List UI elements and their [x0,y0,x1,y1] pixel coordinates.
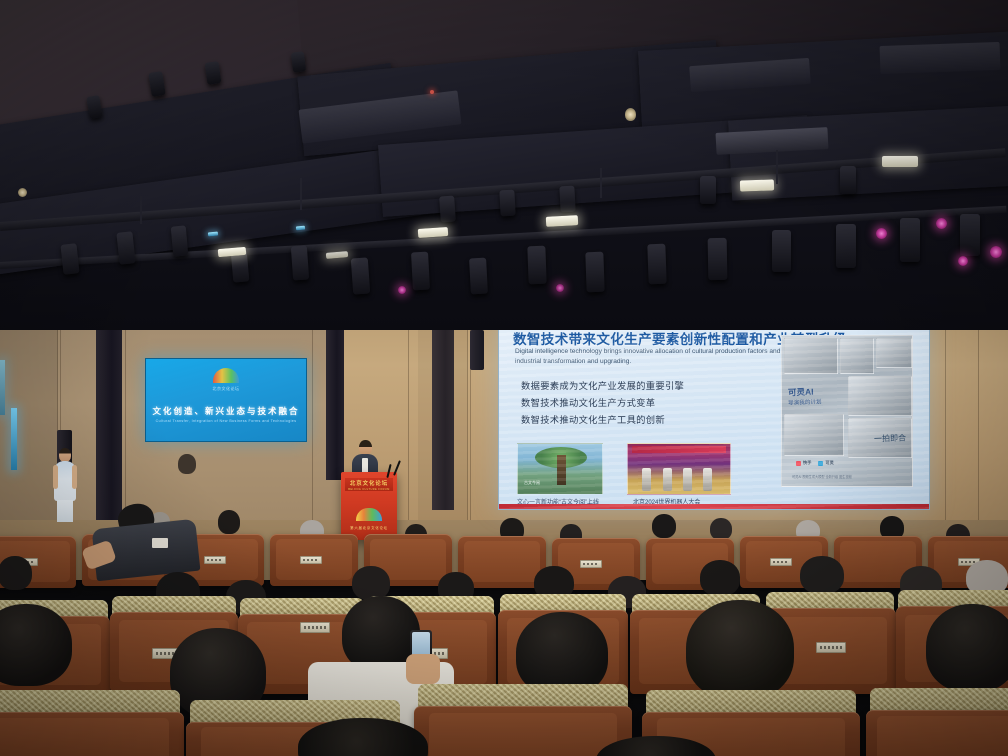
left-screen-english: Cultural Transfer, Integration of New Bu… [156,419,297,423]
audience-head-far [710,518,732,540]
magenta-light [990,246,1002,258]
light-hanger [600,168,602,198]
seat-number-plaque [204,556,226,564]
audience-head-front [926,604,1008,692]
stage-light [559,186,575,213]
stage-light [527,246,546,285]
collage-cell [784,414,844,456]
stage-light [585,252,604,293]
speaker-head [359,440,372,455]
slide-bullet-3: 数智技术推动文化生产工具的创新 [521,412,684,429]
cyan-light-strip [0,360,5,415]
robot-figure [683,468,692,491]
lectern-podium: 北京文化论坛 BEIJING CULTURE FORUM 第六届北京文化论坛 [341,472,397,540]
audience-head-mid [352,566,390,600]
stage-light [411,252,430,291]
wall-pillar [432,300,454,510]
left-projection-screen: 北京文化论坛 文化创造、新兴业态与技术融合 Cultural Transfer,… [145,358,307,442]
magenta-light [398,286,406,294]
audience-head-mid [0,556,32,590]
standing-attendant [53,448,77,522]
slide-photo-ai-collage: 可灵AI 导演我的计划 一拍即合 快手 可灵 可灵AI 视频生成大模型 全新升级… [781,335,913,487]
wall-seam [978,300,979,535]
slide-photo-robot-conference [627,443,731,495]
seat-number-plaque [580,560,602,568]
slide-photo-ancient-text: 古文今阅 [517,443,603,495]
wall-panel [0,300,58,550]
ceiling-duct [880,42,1001,74]
ai-footnote: 可灵AI 视频生成大模型 全新升级 图生视频 [792,475,852,480]
stage-light [960,214,980,256]
stage-light [439,196,456,223]
seat-number-plaque [816,642,846,653]
stage-light [836,224,856,268]
stage-light [840,166,856,194]
robot-figure [703,468,712,491]
ceiling-downlight [625,108,636,121]
left-screen-org: 北京文化论坛 [213,386,240,392]
light-hanger [776,150,778,184]
stage-light [499,190,515,217]
keling-logo: 可灵 [818,460,833,466]
audience-head-far [218,510,240,534]
magenta-light [936,218,947,229]
stage-light [351,257,370,294]
collage-cell [876,338,912,368]
wall-speaker [470,330,484,370]
stage-light [900,218,920,262]
slide-bottom-bar [499,504,929,509]
seat [866,710,1008,756]
conference-hall-photo: 北京文化论坛 文化创造、新兴业态与技术融合 Cultural Transfer,… [0,0,1008,756]
photo-inline-label: 古文今阅 [524,480,540,486]
kuaishou-logo: 快手 [796,460,811,466]
magenta-light [876,228,887,239]
slide-bullet-2: 数智技术推动文化生产方式变革 [521,395,684,412]
collage-cell [784,338,838,374]
wall-seam [408,300,409,530]
seat-number-plaque [300,556,322,564]
stage-light [469,258,488,295]
stage-light [60,243,79,275]
lit-fixture [882,156,918,167]
lit-fixture [546,215,578,227]
podium-title-en: BEIJING CULTURE FORUM [348,488,390,491]
cyan-led [296,226,305,231]
ai-brand-label: 可灵AI [788,386,814,399]
seat [414,706,632,756]
ai-tagline-label: 导演我的计划 [788,397,822,406]
slide-bullet-list: 数据要素成为文化产业发展的重要引擎 数智技术推动文化生产方式变革 数智技术推动文… [521,378,684,430]
left-screen-title: 文化创造、新兴业态与技术融合 [152,405,299,417]
audience-head-far [652,514,676,538]
phone-screen [412,632,430,656]
attendant-arm [53,465,58,489]
stage-light [700,176,716,204]
light-hanger [140,196,142,224]
stage-light [205,61,222,85]
audience-head-front [686,600,794,700]
robot-figure [663,468,672,491]
lit-fixture [740,179,774,191]
stage-light [116,231,135,264]
stage-light [291,245,309,280]
slide-bullet-1: 数据要素成为文化产业发展的重要引擎 [521,378,684,395]
stage-light [647,244,666,285]
attendant-skirt [57,500,73,522]
attendant-arm [72,465,77,489]
attendant-head [59,448,71,462]
audience-head-mid [800,556,844,594]
wall-seam [945,300,946,535]
main-presentation-screen: 数智技术带来文化生产要素创新性配置和产业转型升级 Digital intelli… [498,318,930,510]
seat-number-plaque [770,558,792,566]
collage-cell [840,338,874,374]
stage-light [291,51,306,72]
podium-title-cn: 北京文化论坛 [350,479,388,487]
slide-english-subtitle: Digital intelligence technology brings i… [515,347,785,367]
collage-cell [848,376,912,416]
light-hanger [300,178,302,210]
stage-banner [632,446,726,453]
forum-logo-icon [213,368,239,383]
forum-emblem-icon [356,508,382,521]
magenta-light [958,256,968,266]
podium-nameplate: 北京文化论坛 BEIJING CULTURE FORUM [345,478,393,491]
indicator-light [430,90,434,94]
ceiling-downlight [18,188,27,197]
robot-figure [642,468,651,491]
seat [0,712,184,756]
stage-light [772,230,791,272]
ai-partner-logos: 快手 可灵 [796,460,834,466]
cyan-light-strip [11,408,17,470]
tree-trunk-icon [557,455,566,485]
cyan-led [208,232,218,237]
wall-seam [312,300,313,540]
audience-head-far [178,454,196,474]
person-hand [406,654,440,684]
magenta-light [556,284,564,292]
stage-light [171,225,189,256]
podium-front-text: 第六届北京文化论坛 [350,525,388,530]
badge [152,538,168,548]
ai-slogan-label: 一拍即合 [874,432,906,444]
audience-head-mid [700,560,740,596]
stage-light [708,238,728,280]
